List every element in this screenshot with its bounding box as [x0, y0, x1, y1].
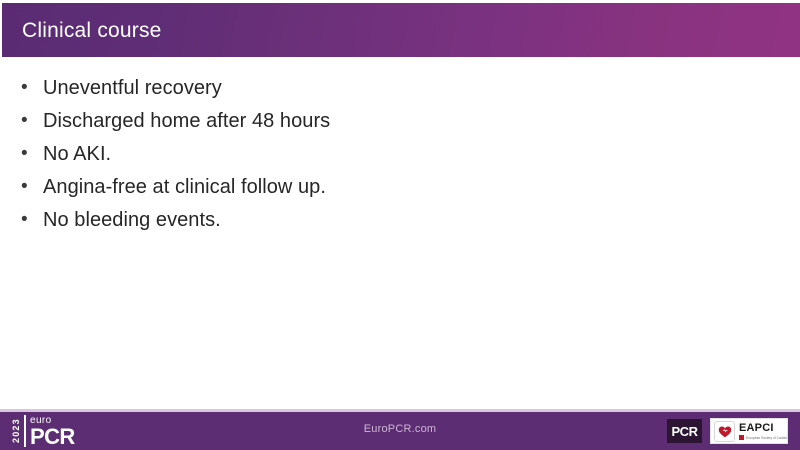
- bullet-marker-icon: •: [21, 173, 43, 201]
- bullet-marker-icon: •: [21, 206, 43, 234]
- bullet-list: • Uneventful recovery • Discharged home …: [0, 74, 760, 239]
- bullet-text: Uneventful recovery: [43, 74, 222, 102]
- eapci-subtitle-label: European Society of Cardiology: [746, 436, 787, 440]
- bullet-text: Angina-free at clinical follow up.: [43, 173, 326, 201]
- bullet-text: No bleeding events.: [43, 206, 221, 234]
- pcr-badge: PCR: [667, 419, 702, 443]
- list-item: • Discharged home after 48 hours: [0, 107, 760, 140]
- pcr-badge-label: PCR: [672, 425, 698, 438]
- bullet-marker-icon: •: [21, 140, 43, 168]
- eapci-badge: EAPCI European Society of Cardiology: [710, 418, 788, 444]
- heart-icon: [714, 421, 735, 442]
- bullet-marker-icon: •: [21, 107, 43, 135]
- slide-title-bar: Clinical course: [2, 3, 800, 57]
- slide-canvas: Clinical course • Uneventful recovery • …: [0, 0, 800, 450]
- eapci-text-block: EAPCI European Society of Cardiology: [739, 422, 787, 440]
- eapci-subtitle-row: European Society of Cardiology: [739, 435, 787, 440]
- eapci-name-label: EAPCI: [739, 422, 787, 434]
- esc-mark-icon: [739, 435, 744, 440]
- bullet-marker-icon: •: [21, 74, 43, 102]
- bullet-text: No AKI.: [43, 140, 111, 168]
- bullet-text: Discharged home after 48 hours: [43, 107, 330, 135]
- list-item: • Uneventful recovery: [0, 74, 760, 107]
- page-title: Clinical course: [22, 20, 162, 41]
- pcr-badge-box: PCR: [667, 419, 702, 443]
- list-item: • Angina-free at clinical follow up.: [0, 173, 760, 206]
- list-item: • No bleeding events.: [0, 206, 760, 239]
- list-item: • No AKI.: [0, 140, 760, 173]
